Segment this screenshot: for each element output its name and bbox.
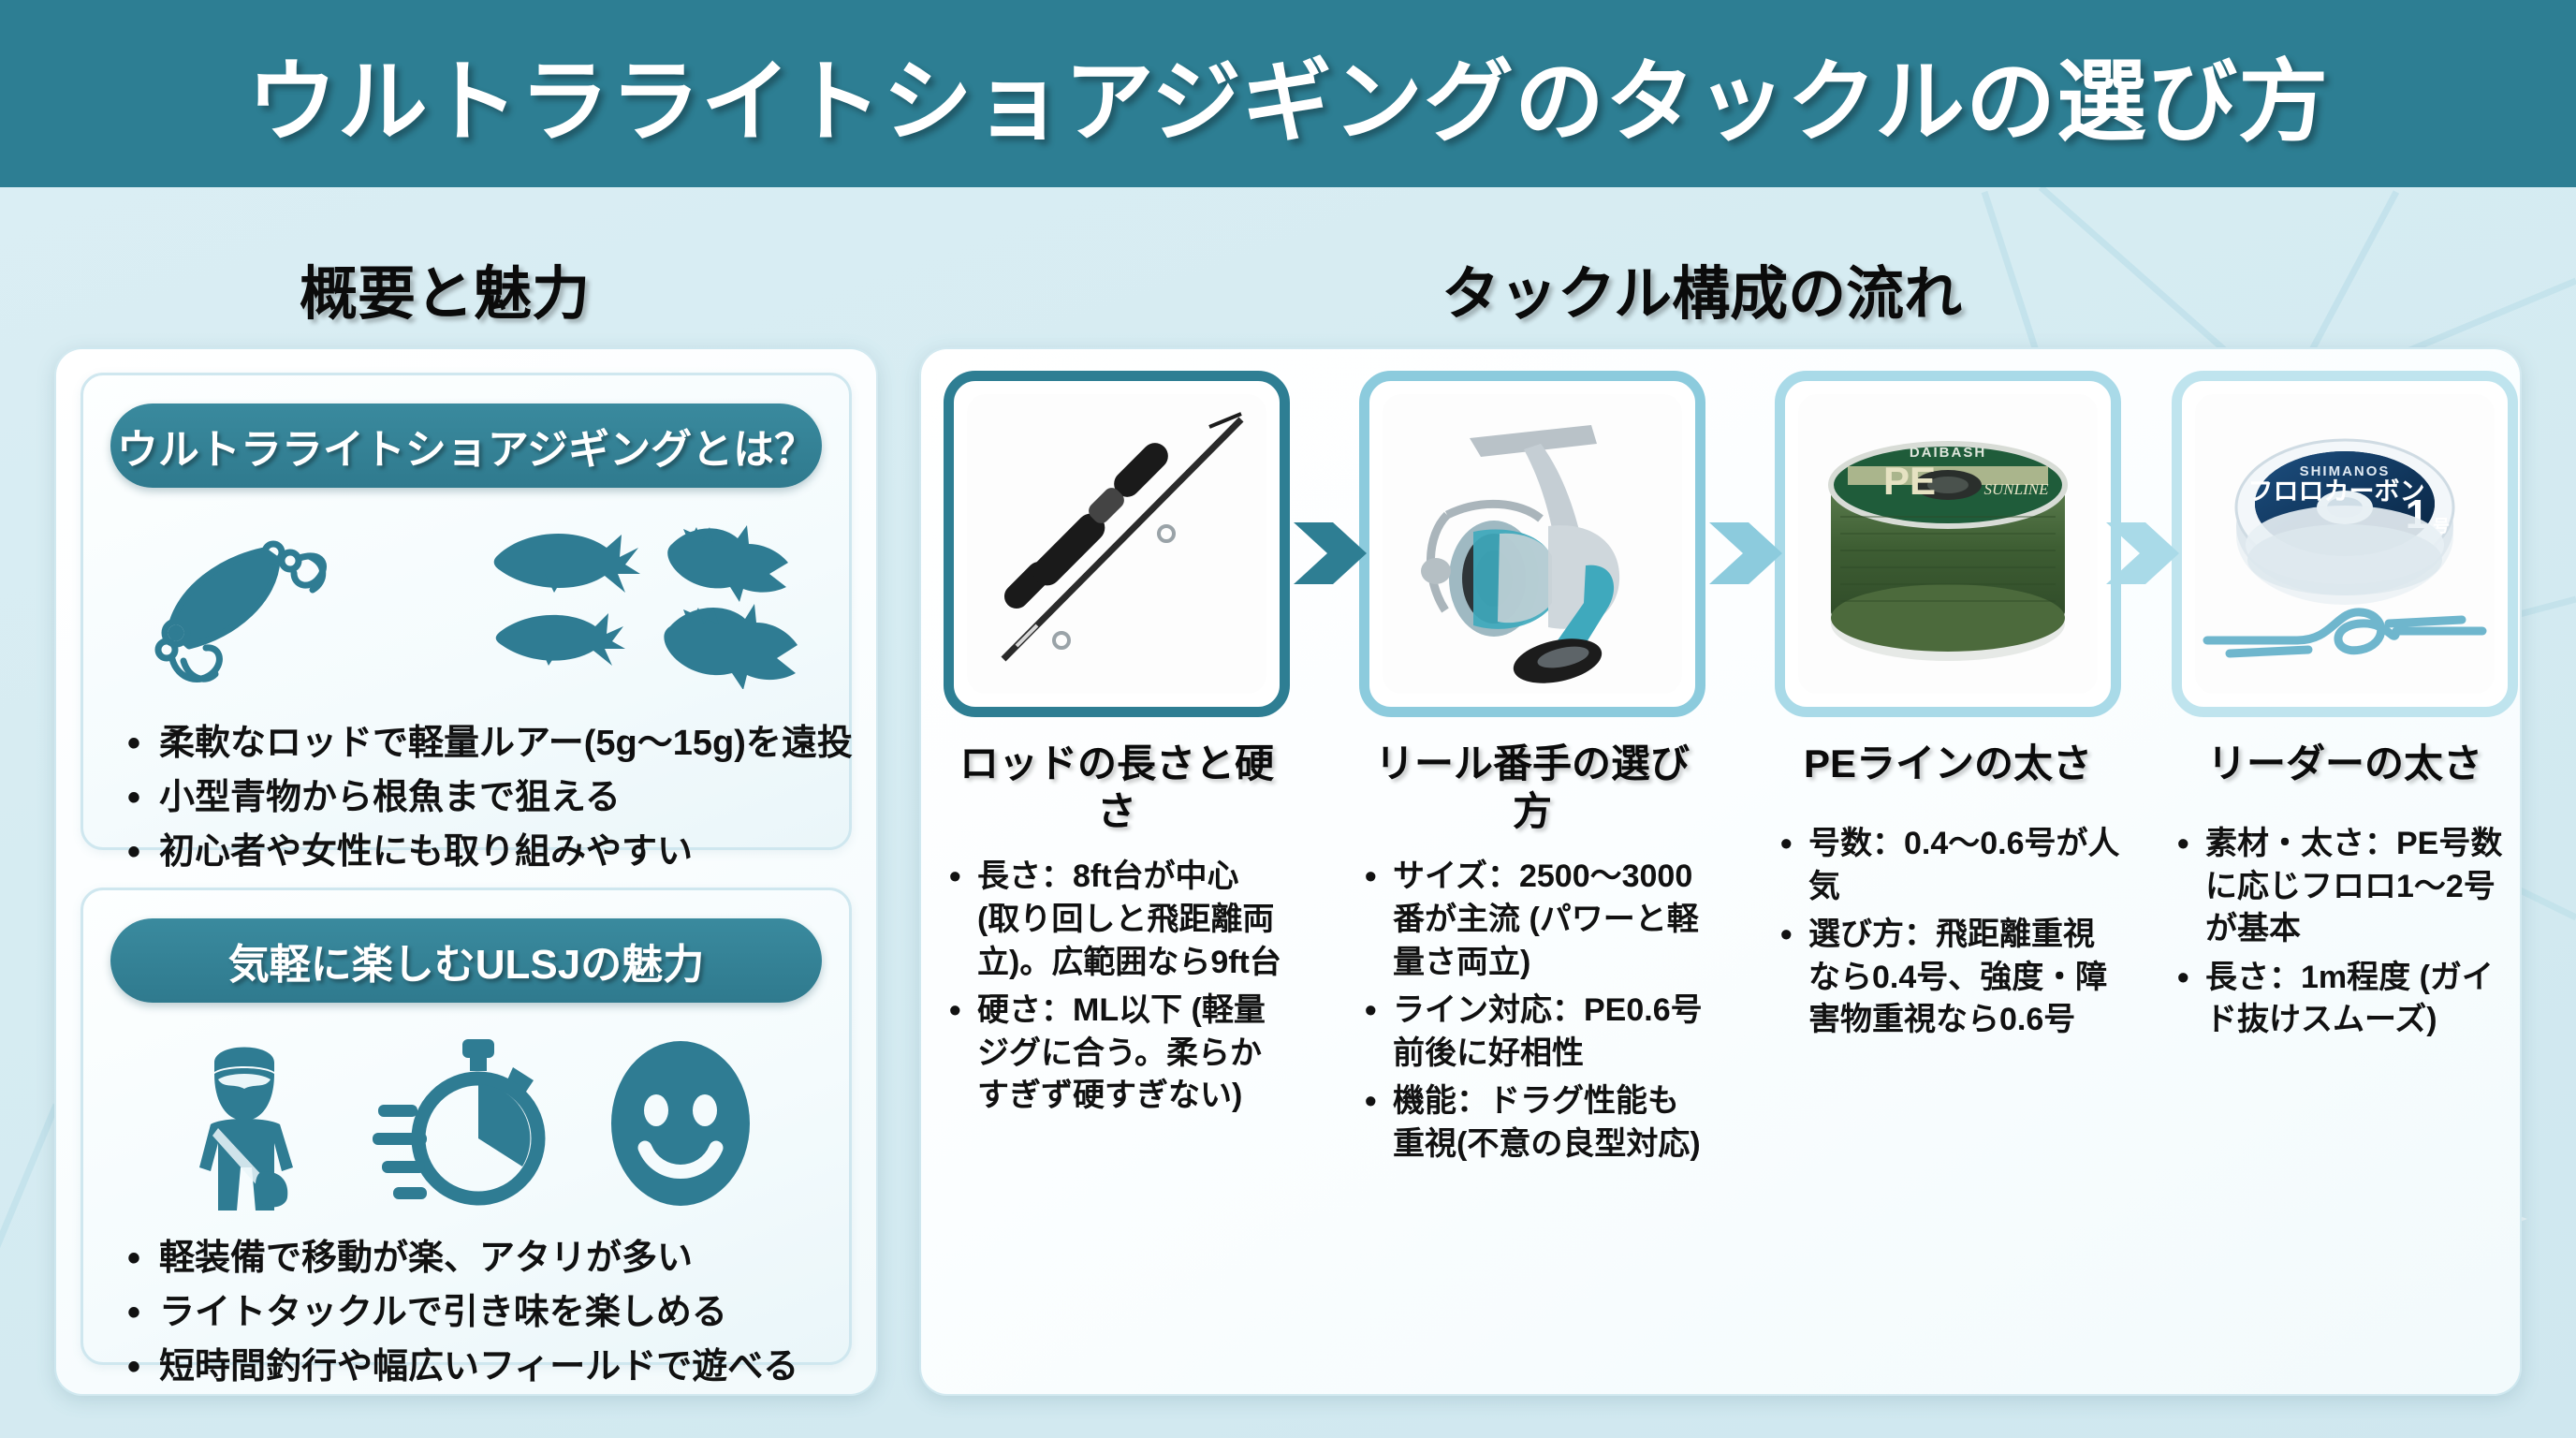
target-fish-icon-group	[489, 516, 798, 689]
list-item: ライン対応：PE0.6号前後に好相性	[1359, 990, 1705, 1075]
list-item: 柔軟なロッドで軽量ルアー(5g〜15g)を遠投	[120, 719, 853, 770]
flow-step-leader: SHIMANOS フロロカーボン 1 号	[2172, 371, 2518, 1048]
what-is-ulsj-label: ウルトラライトショアジギングとは？	[117, 416, 815, 476]
list-item: 硬さ：ML以下 (軽量ジグに合う。柔らかすぎず硬すぎない)	[944, 990, 1290, 1118]
page-header: ウルトラライトショアジギングのタックルの選び方	[0, 0, 2576, 187]
list-item: ライトタックルで引き味を楽しめる	[120, 1288, 798, 1339]
spinning-reel-image-box	[1359, 371, 1705, 717]
list-item: 軽装備で移動が楽、アタリが多い	[120, 1234, 798, 1284]
flow-step-pe-line: PE DAIBASH SUNLINE PEラインの太さ 号数：0.4〜0.6号が…	[1775, 371, 2121, 1048]
page-title: ウルトラライトショアジギングのタックルの選び方	[247, 29, 2329, 159]
step-title-leader: リーダーの太さ	[2172, 740, 2518, 787]
left-section-title: 概要と魅力	[300, 246, 590, 330]
angler-person-icon	[177, 1031, 317, 1213]
smiley-face-icon	[606, 1034, 755, 1211]
ulsj-appeal-bullets: 軽装備で移動が楽、アタリが多い ライトタックルで引き味を楽しめる 短時間釣行や幅…	[120, 1234, 798, 1397]
fluorocarbon-leader-spool-photo: SHIMANOS フロロカーボン 1 号	[2196, 395, 2494, 693]
leader-type-label: フロロカーボン	[2248, 477, 2425, 506]
flow-arrow-3-icon	[2102, 513, 2183, 594]
list-item: 長さ：1m程度 (ガイド抜けスムーズ)	[2172, 957, 2518, 1042]
metal-jig-lure-icon	[135, 519, 369, 687]
fishing-rod-photo	[968, 395, 1266, 693]
flow-step-rod: ロッドの長さと硬さ 長さ：8ft台が中心 (取り回しと飛距離両立)。広範囲なら9…	[944, 371, 1290, 1123]
fishing-rod-image-box	[944, 371, 1290, 717]
list-item: 初心者や女性にも取り組みやすい	[120, 828, 853, 878]
step-title-pe-line: PEラインの太さ	[1775, 740, 2121, 787]
pe-line-spool-photo: PE DAIBASH SUNLINE	[1799, 395, 2097, 693]
list-item: 号数：0.4〜0.6号が人気	[1775, 823, 2121, 908]
list-item: 選び方：飛距離重視なら0.4号、強度・障害物重視なら0.6号	[1775, 914, 2121, 1042]
what-is-ulsj-bullets: 柔軟なロッドで軽量ルアー(5g〜15g)を遠投 小型青物から根魚まで狙える 初心…	[120, 719, 853, 882]
lure-and-fish-icon-row	[83, 516, 849, 689]
step-bullets-rod: 長さ：8ft台が中心 (取り回しと飛距離両立)。広範囲なら9ft台 硬さ：ML以…	[944, 856, 1290, 1117]
step-bullets-reel: サイズ：2500〜3000番が主流 (パワーと軽量さ両立) ライン対応：PE0.…	[1359, 856, 1705, 1166]
flow-step-reel: リール番手の選び方 サイズ：2500〜3000番が主流 (パワーと軽量さ両立) …	[1359, 371, 1705, 1171]
ulsj-appeal-label: 気軽に楽しむULSJの魅力	[228, 931, 704, 990]
list-item: 短時間釣行や幅広いフィールドで遊べる	[120, 1343, 798, 1393]
step-title-rod: ロッドの長さと硬さ	[944, 740, 1290, 835]
ulsj-appeal-pill: 気軽に楽しむULSJの魅力	[110, 918, 822, 1003]
svg-text:DAIBASH: DAIBASH	[1910, 445, 1986, 461]
step-bullets-leader: 素材・太さ：PE号数に応じフロロ1〜2号が基本 長さ：1m程度 (ガイド抜けスム…	[2172, 823, 2518, 1042]
right-section-title: タックル構成の流れ	[1442, 246, 1962, 330]
what-is-ulsj-card: ウルトラライトショアジギングとは？	[80, 373, 852, 850]
list-item: 小型青物から根魚まで狙える	[120, 773, 853, 824]
step-bullets-pe-line: 号数：0.4〜0.6号が人気 選び方：飛距離重視なら0.4号、強度・障害物重視な…	[1775, 823, 2121, 1042]
what-is-ulsj-pill: ウルトラライトショアジギングとは？	[110, 404, 822, 488]
list-item: サイズ：2500〜3000番が主流 (パワーと軽量さ両立)	[1359, 856, 1705, 984]
list-item: 長さ：8ft台が中心 (取り回しと飛距離両立)。広範囲なら9ft台	[944, 856, 1290, 984]
flow-arrow-1-icon	[1290, 513, 1370, 594]
stopwatch-icon	[373, 1035, 550, 1209]
appeal-icon-row	[83, 1031, 849, 1213]
leader-image-box: SHIMANOS フロロカーボン 1 号	[2172, 371, 2518, 717]
spinning-reel-photo	[1383, 395, 1681, 693]
list-item: 機能：ドラグ性能も重視(不意の良型対応)	[1359, 1080, 1705, 1166]
pe-line-label: PE	[1883, 459, 1936, 503]
svg-text:SUNLINE: SUNLINE	[1984, 480, 2050, 498]
list-item: 素材・太さ：PE号数に応じフロロ1〜2号が基本	[2172, 823, 2518, 951]
pe-line-image-box: PE DAIBASH SUNLINE	[1775, 371, 2121, 717]
ulsj-appeal-card: 気軽に楽しむULSJの魅力	[80, 888, 852, 1365]
flow-arrow-2-icon	[1705, 513, 1786, 594]
step-title-reel: リール番手の選び方	[1359, 740, 1705, 835]
infographic-canvas: ウルトラライトショアジギングのタックルの選び方 概要と魅力 タックル構成の流れ …	[0, 0, 2576, 1438]
